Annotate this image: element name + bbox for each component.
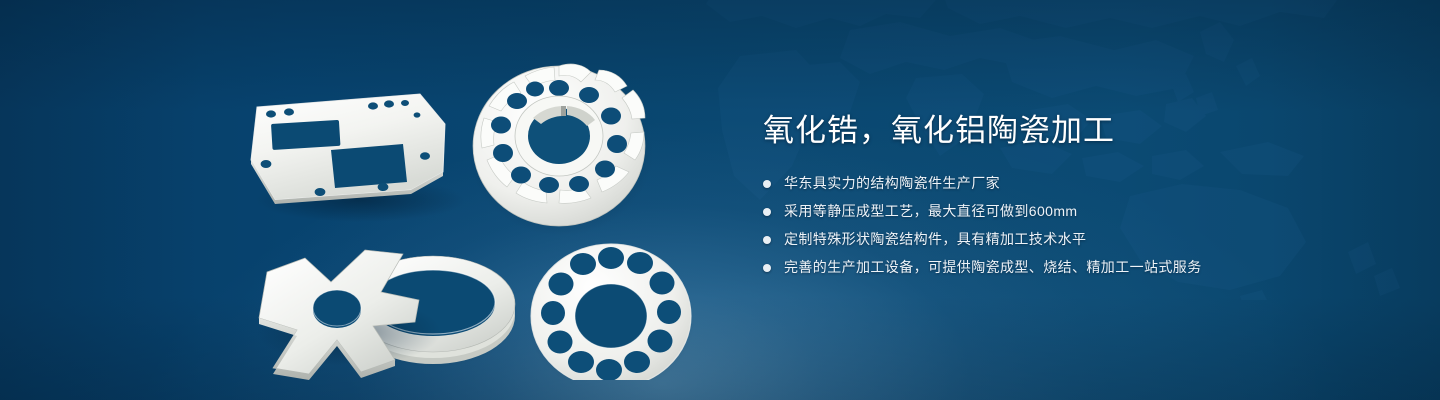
banner-headline: 氧化锆，氧化铝陶瓷加工 xyxy=(763,108,1383,154)
list-item: 完善的生产加工设备，可提供陶瓷成型、烧结、精加工一站式服务 xyxy=(763,257,1383,278)
bullet-dot-icon xyxy=(763,208,771,216)
bullet-dot-icon xyxy=(763,236,771,244)
ceramic-perforated-disc-part xyxy=(527,244,695,380)
product-image-cluster xyxy=(235,40,715,380)
list-item: 定制特殊形状陶瓷结构件，具有精加工技术水平 xyxy=(763,229,1383,250)
banner-copy: 氧化锆，氧化铝陶瓷加工 华东具实力的结构陶瓷件生产厂家 采用等静压成型工艺，最大… xyxy=(763,108,1383,278)
feature-text: 定制特殊形状陶瓷结构件，具有精加工技术水平 xyxy=(784,229,1086,250)
feature-text: 完善的生产加工设备，可提供陶瓷成型、烧结、精加工一站式服务 xyxy=(784,257,1202,278)
hero-banner: 氧化锆，氧化铝陶瓷加工 华东具实力的结构陶瓷件生产厂家 采用等静压成型工艺，最大… xyxy=(0,0,1440,400)
feature-text: 华东具实力的结构陶瓷件生产厂家 xyxy=(784,173,1000,194)
bullet-dot-icon xyxy=(763,180,771,188)
list-item: 采用等静压成型工艺，最大直径可做到600mm xyxy=(763,201,1383,222)
ceramic-plate-part xyxy=(251,94,465,222)
bullet-dot-icon xyxy=(763,264,771,272)
list-item: 华东具实力的结构陶瓷件生产厂家 xyxy=(763,173,1383,194)
ceramic-impeller-part xyxy=(469,64,653,236)
feature-text: 采用等静压成型工艺，最大直径可做到600mm xyxy=(784,201,1077,222)
feature-list: 华东具实力的结构陶瓷件生产厂家 采用等静压成型工艺，最大直径可做到600mm 定… xyxy=(763,173,1383,278)
